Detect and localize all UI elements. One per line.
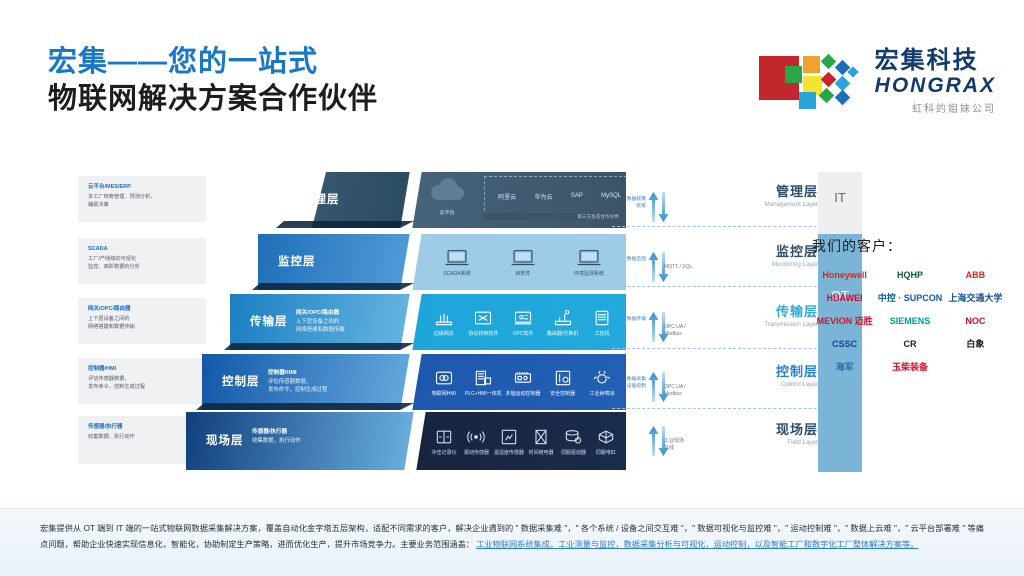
vibration-sensor-icon (460, 426, 492, 448)
data-flow-label: 数据采集设备控制 (612, 376, 646, 390)
data-flow-arrows: 数据核算统筹 数据监控 (612, 172, 722, 472)
pyramid-band-4[interactable]: 控制层控制器/HMI评估传感器数据，发布命令，控制生成过程物联网HMIPLC+H… (186, 354, 626, 410)
data-flow-row-1: 数据核算统筹 (612, 190, 722, 230)
logo-name-en: HONGRAX (875, 74, 996, 98)
device-caption: SCADA系统 (435, 271, 479, 278)
logo-wordmark: 宏集科技 HONGRAX 虹科的姐妹公司 (875, 48, 996, 115)
pyramid-band-5[interactable]: 现场层传感器/执行器收集数据，执行动作冲击记录仪振动传感器温湿度传感器时间继电器… (186, 412, 626, 470)
band-subtext-control: 控制器/HMI评估传感器数据，发布命令，控制生成过程 (268, 369, 327, 394)
plc-hmi-icon (464, 367, 504, 389)
domain-band-label: IT (834, 190, 846, 205)
icon-row-field: 冲击记录仪振动传感器温湿度传感器时间继电器伺服驱动器伺服电缸 (428, 412, 622, 470)
icon-row-transmission: 边缘网关协议转换软件OPC软件路由器/交换机工控机 (424, 294, 622, 350)
third-party-partners-box: 阿里云华为云SAPMySQLinfluxdatakafka (484, 176, 626, 216)
pyramid-band-3[interactable]: 传输层网关/OPC/路由器上下层设备之间的网络搭建和数据传输边缘网关协议转换软件… (186, 294, 626, 350)
customer-logo-grid: HoneywellHQHPABBHUAWEI中控 · SUPCON上海交通大学M… (812, 270, 1008, 372)
device-caption: BI软件 (501, 271, 545, 278)
customer-logo: 海军 (836, 362, 854, 372)
device-item[interactable]: BI软件 (501, 247, 545, 278)
device-caption: 振动传感器 (460, 450, 492, 457)
layer-name-en: Transmission Layer (764, 320, 818, 329)
left-note-title: 控制器/HMI (88, 365, 198, 373)
band-label-monitoring: 监控层 (278, 253, 316, 269)
router-switch-icon (543, 307, 583, 329)
opc-software-icon (503, 307, 543, 329)
device-item[interactable]: 温湿度传感器 (493, 426, 525, 457)
customer-logo: HQHP (897, 270, 923, 280)
device-caption: PLC+HMI一体机 (464, 391, 504, 398)
third-party-partners-caption: 第三方生态合作伙伴 (484, 213, 626, 220)
icon-row-monitoring: SCADA系统BI软件环境监测系统 (424, 234, 622, 290)
device-caption: 冲击记录仪 (428, 450, 460, 457)
company-logo: 宏集科技 HONGRAX 虹科的姐妹公司 (759, 48, 996, 115)
band-label-field: 现场层 (206, 432, 244, 448)
footer-paragraph: 宏集提供从 OT 端到 IT 端的一站式物联网数据采集解决方案，覆盖自动化金字塔… (40, 521, 984, 553)
layer-name-cn: 管理层 (765, 184, 818, 200)
data-flow-row-4: 数据采集设备控制 OPC UA /Modbus (612, 370, 722, 410)
cloud-platform-item[interactable]: 云平台 (416, 178, 478, 216)
safety-controller-icon (543, 367, 583, 389)
device-item[interactable]: 协议转换软件 (464, 307, 504, 338)
protocol-converter-icon (464, 307, 504, 329)
device-item[interactable]: 边缘网关 (424, 307, 464, 338)
customer-logo: MEVION 迈胜 (817, 316, 873, 326)
device-caption: 温湿度传感器 (493, 450, 525, 457)
cloud-icon (416, 178, 478, 207)
device-item[interactable]: 时间继电器 (525, 426, 557, 457)
device-caption: 路由器/交换机 (543, 331, 583, 338)
device-caption: 伺服驱动器 (557, 450, 589, 457)
customer-logo: 上海交通大学 (948, 293, 1002, 303)
left-note-title: SCADA (88, 245, 198, 253)
left-note-title: 云平台/MES/ERP (88, 183, 198, 191)
device-item[interactable]: 环境监测系统 (567, 247, 611, 278)
device-item[interactable]: 多轴运动控制器 (503, 367, 543, 398)
device-caption: 时间继电器 (525, 450, 557, 457)
customer-logo: NOC (965, 316, 985, 326)
protocol-label: OPC UA /Modbus (664, 324, 686, 338)
band-shadow (224, 343, 414, 350)
gateway-icon (424, 307, 464, 329)
pyramid-band-1[interactable]: 管理层云平台阿里云华为云SAPMySQLinfluxdatakafka第三方生态… (186, 172, 626, 228)
page-header: 宏集——您的一站式 物联网解决方案合作伙伴 宏集科技 HONGRAX (0, 0, 1024, 140)
device-caption: 协议转换软件 (464, 331, 504, 338)
pyramid-bands: 管理层云平台阿里云华为云SAPMySQLinfluxdatakafka第三方生态… (186, 172, 626, 472)
icon-row-control: 物联网HMIPLC+HMI一体机多轴运动控制器安全控制器工业树莓派 (424, 354, 622, 410)
layer-name-column: 管理层Management Layer监控层Monitoring Layer传输… (710, 172, 818, 472)
customer-logo: 白象 (966, 339, 984, 349)
left-note-body: 多工厂统筹管理、预测分析、辅助决策 (88, 193, 198, 209)
band-label-control: 控制层 (222, 373, 260, 389)
customer-logo: 中控 · SUPCON (878, 293, 943, 303)
device-caption: OPC软件 (503, 331, 543, 338)
iot-hmi-icon (424, 367, 464, 389)
left-note-body: 上下层设备之间的网络搭建和数据传输 (88, 315, 198, 331)
band-subtext-field: 传感器/执行器收集数据，执行动作 (252, 428, 301, 445)
customer-logo: SIEMENS (890, 316, 931, 326)
layer-name-3: 传输层Transmission Layer (764, 304, 818, 329)
layer-name-en: Control Layer (776, 380, 818, 389)
data-flow-label: 数据传输 (612, 316, 646, 323)
cloud-platform-caption: 云平台 (416, 209, 478, 216)
customer-logo: Honeywell (822, 270, 867, 280)
device-item[interactable]: 冲击记录仪 (428, 426, 460, 457)
left-note-body: 评估传感器数据，发布命令，控制生成过程 (88, 375, 198, 391)
device-item[interactable]: PLC+HMI一体机 (464, 367, 504, 398)
band-subtext-transmission: 网关/OPC/路由器上下层设备之间的网络搭建和数据传输 (296, 309, 345, 334)
laptop-icon (501, 247, 545, 269)
title-line-secondary: 物联网解决方案合作伙伴 (48, 80, 378, 118)
servo-driver-icon (557, 426, 589, 448)
layer-name-en: Field Layer (776, 438, 818, 447)
device-caption: 安全控制器 (543, 391, 583, 398)
band-label-transmission: 传输层 (250, 313, 288, 329)
logo-name-cn: 宏集科技 (875, 48, 979, 74)
footer-description: 宏集提供从 OT 端到 IT 端的一站式物联网数据采集解决方案，覆盖自动化金字塔… (0, 508, 1024, 576)
device-item[interactable]: 安全控制器 (543, 367, 583, 398)
customer-logo: CSSC (832, 339, 857, 349)
data-flow-label: 数据核算统筹 (612, 196, 646, 210)
logo-tagline: 虹科的姐妹公司 (912, 100, 996, 115)
band-label-management: 管理层 (302, 191, 340, 207)
laptop-icon (435, 247, 479, 269)
customers-panel: 我们的客户： HoneywellHQHPABBHUAWEI中控 · SUPCON… (812, 236, 1008, 372)
protocol-label: OPC UA /Modbus (664, 384, 686, 398)
time-relay-icon (525, 426, 557, 448)
customer-logo: 玉柴装备 (892, 362, 928, 372)
device-item[interactable]: 路由器/交换机 (543, 307, 583, 338)
data-flow-row-2: 数据监控 MQTT / SQL (612, 250, 722, 290)
band-shadow (276, 221, 414, 228)
data-flow-row-5: 工业现场总线 (612, 424, 722, 464)
shock-recorder-icon (428, 426, 460, 448)
bidirectional-arrow-icon (648, 190, 670, 229)
layer-name-1: 管理层Management Layer (765, 184, 818, 209)
pyramid-band-2[interactable]: 监控层SCADA系统BI软件环境监测系统 (186, 234, 626, 290)
device-caption: 边缘网关 (424, 331, 464, 338)
device-caption: 环境监测系统 (567, 271, 611, 278)
band-shadow (252, 283, 414, 290)
left-note-body: 收集数据，执行动作 (88, 433, 198, 441)
footer-link[interactable]: 工业物联网系统集成，工业测量与监控，数据采集分析与可视化，运动控制，以及智能工厂… (476, 540, 918, 549)
layer-name-cn: 现场层 (776, 422, 818, 438)
protocol-label: MQTT / SQL (664, 264, 692, 271)
data-flow-row-3: 数据传输 OPC UA /Modbus (612, 310, 722, 350)
motion-controller-icon (503, 367, 543, 389)
device-caption: 多轴运动控制器 (503, 391, 543, 398)
layer-name-cn: 传输层 (764, 304, 818, 320)
customer-logo: HUAWEI (827, 293, 863, 303)
left-note-body: 工厂/产线级的可视化监控、高阶数据的分析 (88, 255, 198, 271)
customers-title: 我们的客户： (812, 236, 1008, 256)
partner-alibaba-cloud-icon[interactable]: 阿里云 (498, 192, 516, 201)
customer-logo: ABB (966, 270, 986, 280)
layer-name-en: Management Layer (765, 200, 818, 209)
device-item[interactable]: 振动传感器 (460, 426, 492, 457)
device-item[interactable]: 物联网HMI (424, 367, 464, 398)
left-note-title: 传感器/执行器 (88, 423, 198, 431)
logo-mosaic-icon (759, 52, 863, 112)
device-caption: 物联网HMI (424, 391, 464, 398)
page-title: 宏集——您的一站式 物联网解决方案合作伙伴 (48, 44, 378, 118)
protocol-label: 工业现场总线 (664, 438, 684, 452)
automation-pyramid-diagram: 云平台/MES/ERP多工厂统筹管理、预测分析、辅助决策SCADA工厂/产线级的… (78, 172, 790, 472)
device-item[interactable]: 伺服驱动器 (557, 426, 589, 457)
data-flow-label: 数据监控 (612, 256, 646, 263)
domain-band-it: IT (818, 172, 862, 234)
device-item[interactable]: OPC软件 (503, 307, 543, 338)
customer-logo: CR (903, 339, 916, 349)
layer-name-5: 现场层Field Layer (776, 422, 818, 447)
partner-huawei-cloud-icon[interactable]: 华为云 (534, 192, 552, 201)
device-item[interactable]: SCADA系统 (435, 247, 479, 278)
band-shadow (196, 403, 414, 410)
title-line-primary: 宏集——您的一站式 (48, 44, 378, 80)
temp-humidity-sensor-icon (493, 426, 525, 448)
partner-sap-icon[interactable]: SAP (571, 193, 583, 199)
left-note-title: 网关/OPC/路由器 (88, 305, 198, 313)
laptop-icon (567, 247, 611, 269)
